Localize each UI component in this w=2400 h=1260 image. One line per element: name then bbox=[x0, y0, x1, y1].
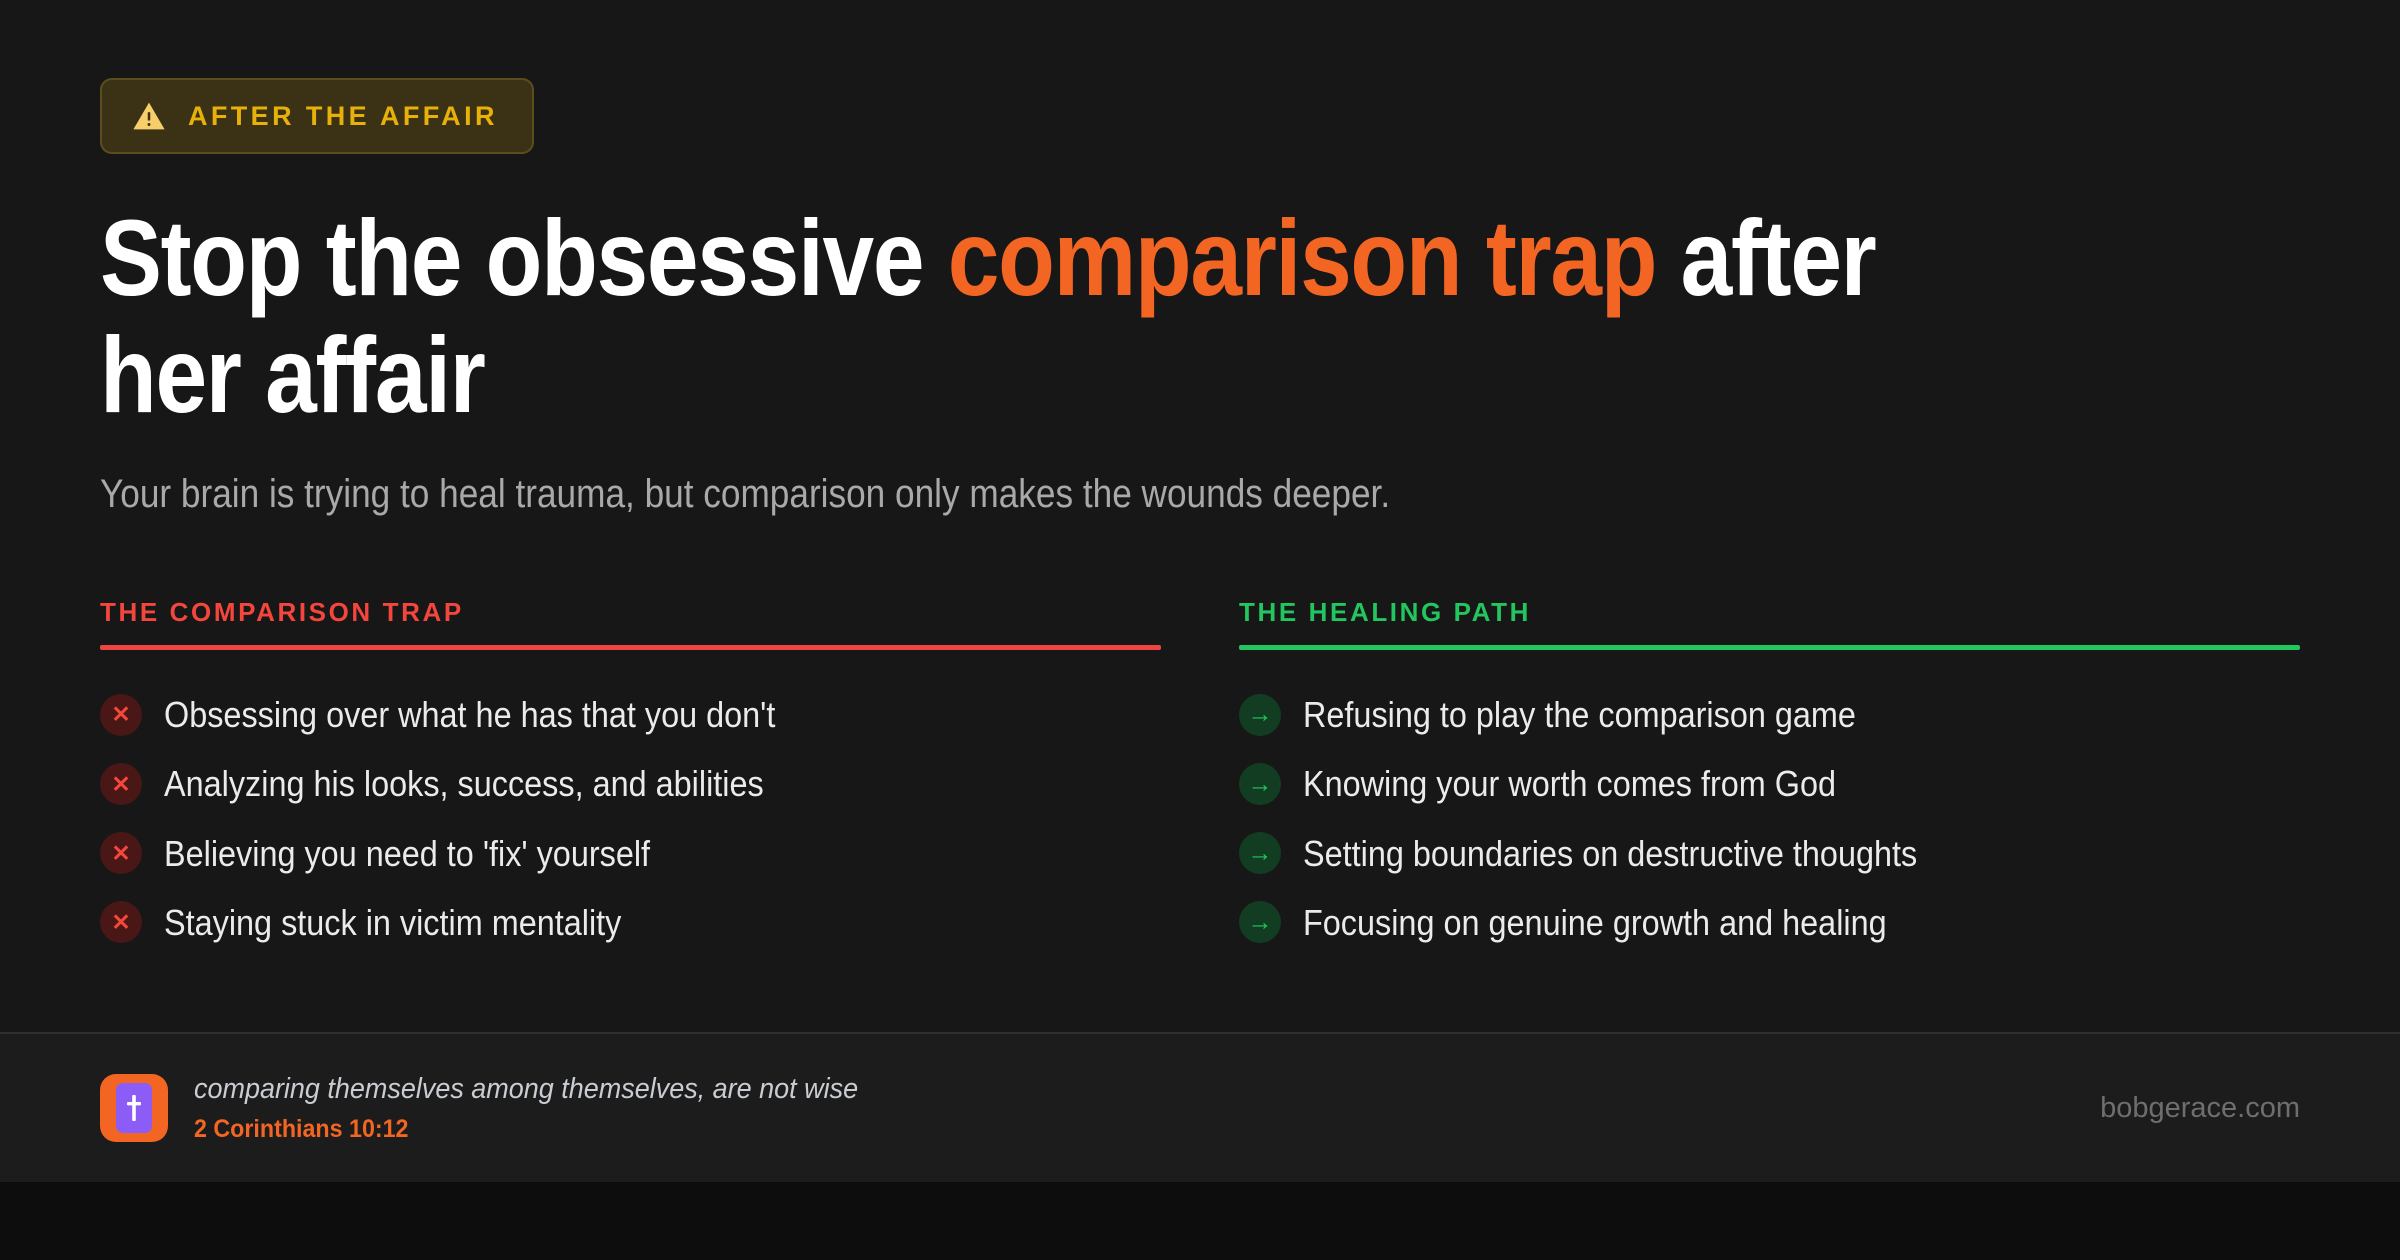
badge-label: AFTER THE AFFAIR bbox=[188, 103, 498, 130]
arrow-right-circle-icon: → bbox=[1239, 901, 1281, 943]
list-item-label: Knowing your worth comes from God bbox=[1303, 762, 1836, 805]
column-heading-positive: THE HEALING PATH bbox=[1239, 599, 2300, 645]
list-item: ✕ Staying stuck in victim mentality bbox=[100, 888, 1161, 957]
list-item: → Focusing on genuine growth and healing bbox=[1239, 888, 2300, 957]
list-negative: ✕ Obsessing over what he has that you do… bbox=[100, 680, 1161, 957]
bottom-strip bbox=[0, 1182, 2400, 1260]
page-title: Stop the obsessive comparison trap after… bbox=[100, 200, 1966, 433]
headline-part-one: Stop the obsessive bbox=[100, 197, 948, 318]
list-item: → Knowing your worth comes from God bbox=[1239, 749, 2300, 818]
column-rule-negative bbox=[100, 645, 1161, 650]
scripture-reference: 2 Corinthians 10:12 bbox=[194, 1114, 858, 1144]
column-healing-path: THE HEALING PATH → Refusing to play the … bbox=[1239, 599, 2300, 957]
arrow-right-circle-icon: → bbox=[1239, 763, 1281, 805]
site-watermark: bobgerace.com bbox=[2100, 1094, 2300, 1123]
after-the-affair-badge: AFTER THE AFFAIR bbox=[100, 78, 534, 154]
x-circle-icon: ✕ bbox=[100, 901, 142, 943]
page-subtitle: Your brain is trying to heal trauma, but… bbox=[100, 467, 2036, 521]
scripture-text: comparing themselves among themselves, a… bbox=[194, 1072, 908, 1144]
list-item-label: Focusing on genuine growth and healing bbox=[1303, 901, 1887, 944]
list-item: → Refusing to play the comparison game bbox=[1239, 680, 2300, 749]
list-item-label: Obsessing over what he has that you don'… bbox=[164, 693, 775, 736]
scripture-block: comparing themselves among themselves, a… bbox=[100, 1072, 908, 1144]
column-comparison-trap: THE COMPARISON TRAP ✕ Obsessing over wha… bbox=[100, 599, 1161, 957]
x-circle-icon: ✕ bbox=[100, 694, 142, 736]
cross-icon bbox=[100, 1074, 168, 1142]
comparison-columns: THE COMPARISON TRAP ✕ Obsessing over wha… bbox=[100, 599, 2300, 957]
list-item: ✕ Analyzing his looks, success, and abil… bbox=[100, 749, 1161, 818]
scripture-quote: comparing themselves among themselves, a… bbox=[194, 1072, 858, 1107]
arrow-right-circle-icon: → bbox=[1239, 694, 1281, 736]
list-item-label: Staying stuck in victim mentality bbox=[164, 901, 621, 944]
x-circle-icon: ✕ bbox=[100, 763, 142, 805]
slide-root: AFTER THE AFFAIR Stop the obsessive comp… bbox=[0, 0, 2400, 1260]
list-item-label: Refusing to play the comparison game bbox=[1303, 693, 1856, 736]
list-item: → Setting boundaries on destructive thou… bbox=[1239, 819, 2300, 888]
cross-icon-inner bbox=[116, 1083, 152, 1133]
list-item: ✕ Obsessing over what he has that you do… bbox=[100, 680, 1161, 749]
warning-triangle-icon bbox=[132, 99, 166, 133]
column-heading-negative: THE COMPARISON TRAP bbox=[100, 599, 1161, 645]
footer-bar: comparing themselves among themselves, a… bbox=[0, 1032, 2400, 1182]
list-item: ✕ Believing you need to 'fix' yourself bbox=[100, 819, 1161, 888]
list-item-label: Analyzing his looks, success, and abilit… bbox=[164, 762, 764, 805]
slide-content: AFTER THE AFFAIR Stop the obsessive comp… bbox=[0, 0, 2400, 957]
headline-accent: comparison trap bbox=[948, 197, 1656, 318]
column-rule-positive bbox=[1239, 645, 2300, 650]
x-circle-icon: ✕ bbox=[100, 832, 142, 874]
arrow-right-circle-icon: → bbox=[1239, 832, 1281, 874]
list-item-label: Believing you need to 'fix' yourself bbox=[164, 832, 650, 875]
list-positive: → Refusing to play the comparison game →… bbox=[1239, 680, 2300, 957]
list-item-label: Setting boundaries on destructive though… bbox=[1303, 832, 1917, 875]
